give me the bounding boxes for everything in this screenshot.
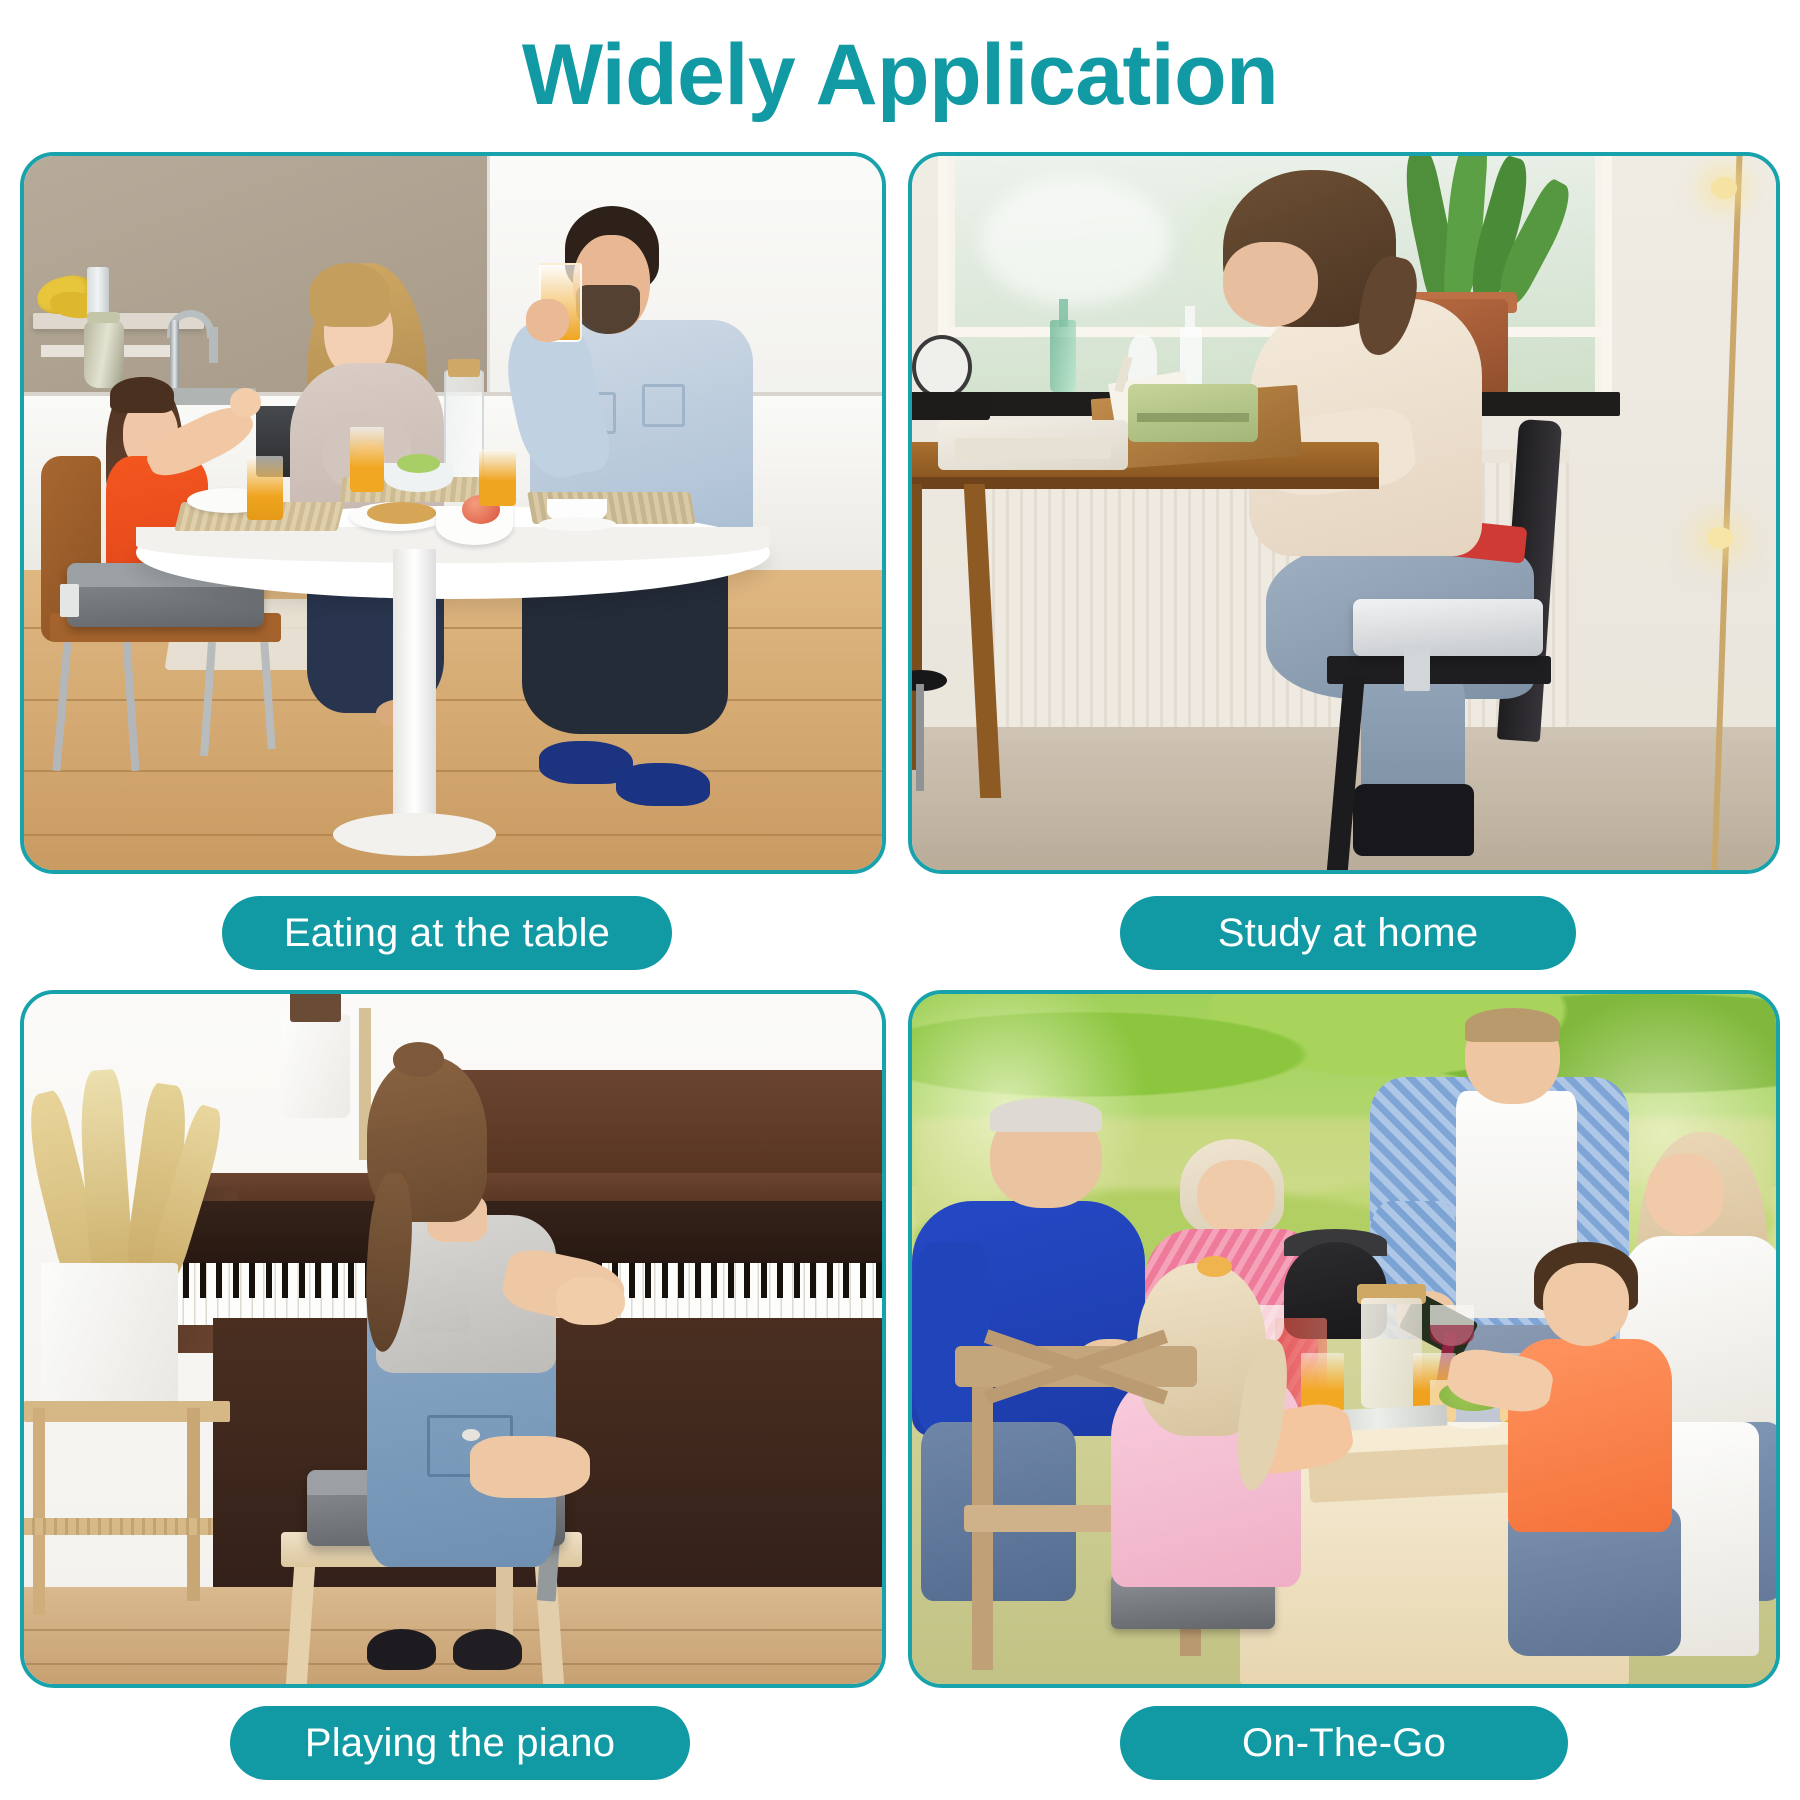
photo-girl-playing-piano <box>24 994 882 1684</box>
application-card-on-the-go[interactable] <box>908 990 1780 1688</box>
page-title: Widely Application <box>0 26 1800 125</box>
photo-girl-studying-at-desk <box>912 156 1776 870</box>
badge-eating-at-the-table[interactable]: Eating at the table <box>222 896 672 970</box>
photo-family-eating-at-kitchen-table <box>24 156 882 870</box>
application-card-eating-at-the-table[interactable] <box>20 152 886 874</box>
badge-study-at-home[interactable]: Study at home <box>1120 896 1576 970</box>
booster-cushion-product <box>1353 599 1543 656</box>
badge-on-the-go[interactable]: On-The-Go <box>1120 1706 1568 1780</box>
application-card-playing-the-piano[interactable] <box>20 990 886 1688</box>
badge-playing-the-piano[interactable]: Playing the piano <box>230 1706 690 1780</box>
application-card-study-at-home[interactable] <box>908 152 1780 874</box>
photo-family-outdoor-picnic <box>912 994 1776 1684</box>
